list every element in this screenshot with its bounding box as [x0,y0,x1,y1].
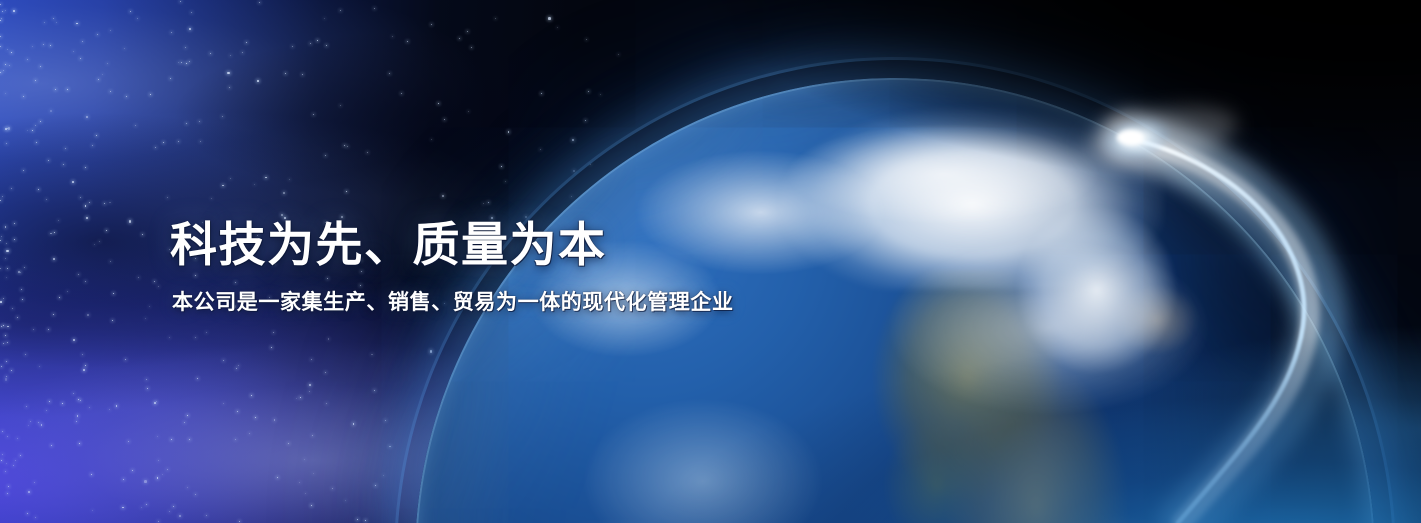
comet-head-glow [1093,104,1188,173]
banner-title: 科技为先、质量为本 [170,220,734,270]
comet-tail-smear [1079,97,1242,175]
banner-subtitle: 本公司是一家集生产、销售、贸易为一体的现代化管理企业 [172,290,734,315]
comet-nucleus [1117,130,1143,145]
comet-trail-core [1128,138,1304,523]
comet-trail-glow [1128,139,1310,523]
landmass-north-america [837,270,1221,523]
arctic-ice-cap [780,97,1164,289]
comet-trail-halo [1128,140,1319,523]
hero-banner: 科技为先、质量为本 本公司是一家集生产、销售、贸易为一体的现代化管理企业 [0,0,1421,523]
hero-text-block: 科技为先、质量为本 本公司是一家集生产、销售、贸易为一体的现代化管理企业 [170,220,734,315]
landmass-greenland [991,193,1221,404]
